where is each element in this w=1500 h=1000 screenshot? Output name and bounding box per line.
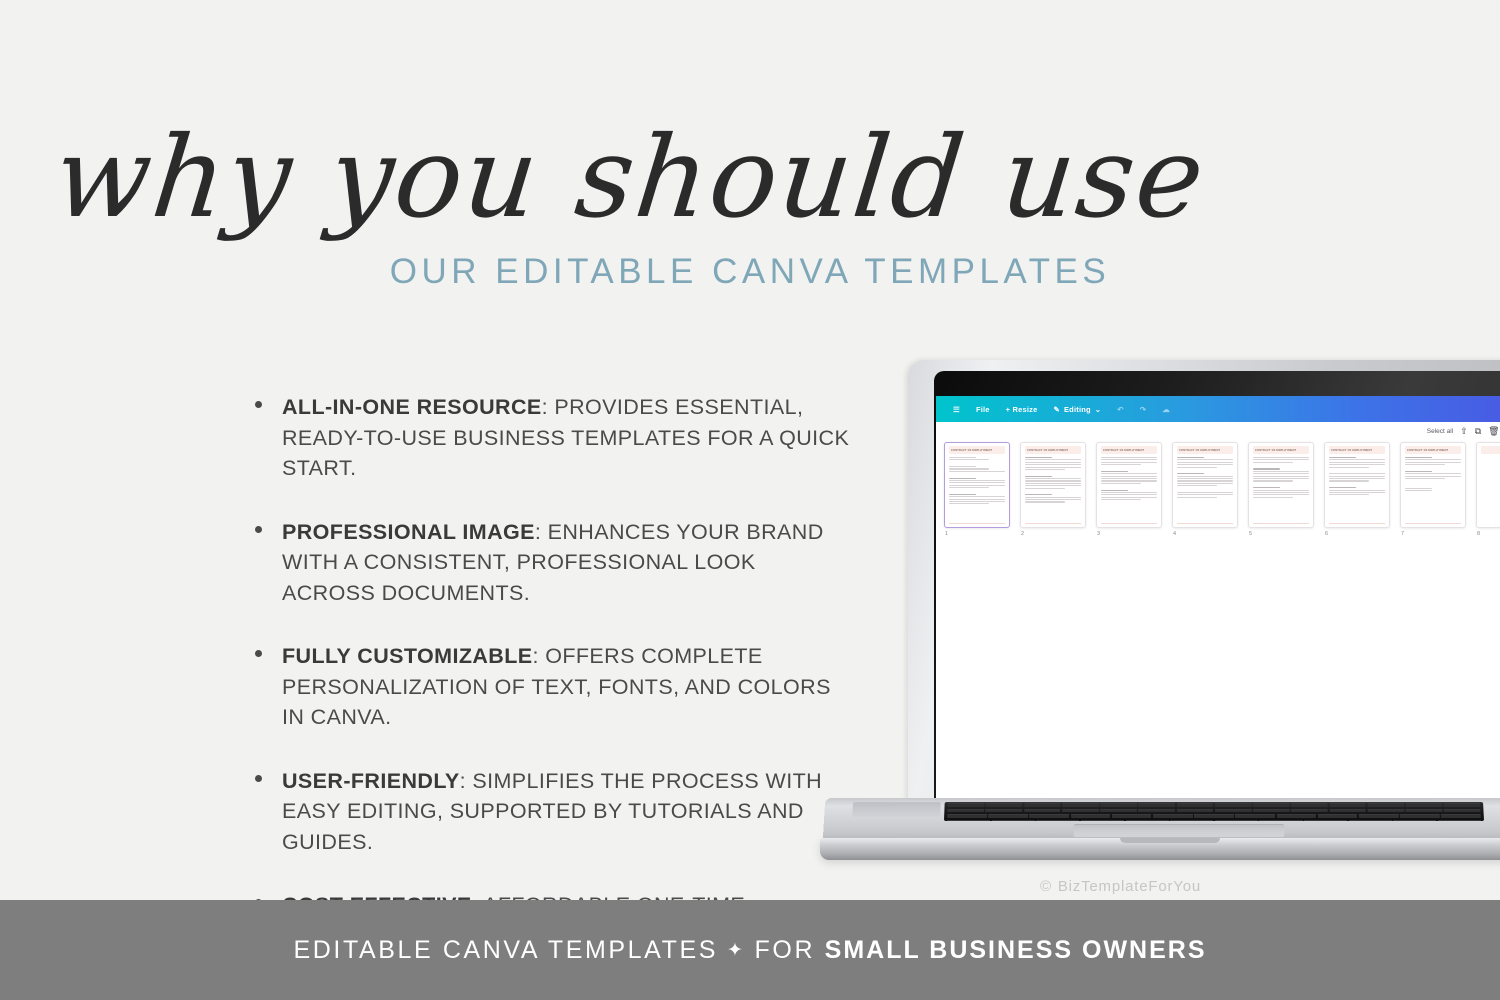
- list-item: ALL-IN-ONE RESOURCE: PROVIDES ESSENTIAL,…: [252, 392, 852, 484]
- document-title: CONTRACT OF EMPLOYMENT: [1179, 449, 1220, 452]
- document-title: CONTRACT OF EMPLOYMENT: [1407, 449, 1448, 452]
- page-number: 6: [1324, 531, 1390, 537]
- bullet-icon: [255, 401, 262, 408]
- redo-icon: ↷: [1140, 405, 1146, 414]
- thumbnail-item[interactable]: CONTRACT OF EMPLOYMENT 6: [1324, 442, 1390, 537]
- trash-icon[interactable]: 🗑: [1488, 427, 1499, 436]
- page-thumbnail[interactable]: CONTRACT OF EMPLOYMENT: [944, 442, 1010, 528]
- laptop-lid: ☰ File + Resize ✎ Editing ⌄ ↶ ↷ ☁: [908, 360, 1500, 802]
- page-number: 3: [1096, 531, 1162, 537]
- watermark-text: BizTemplateForYou: [1058, 878, 1201, 895]
- thumbnail-item[interactable]: 8: [1476, 442, 1500, 537]
- page-thumbnail[interactable]: [1476, 442, 1500, 528]
- thumbnail-item[interactable]: CONTRACT OF EMPLOYMENT 7: [1400, 442, 1466, 537]
- watermark: © BizTemplateForYou: [1040, 878, 1201, 895]
- redo-button[interactable]: ↷: [1132, 396, 1154, 422]
- editing-label: Editing: [1064, 405, 1091, 414]
- thumbnail-item[interactable]: CONTRACT OF EMPLOYMENT 1: [944, 442, 1010, 537]
- benefit-term: ALL-IN-ONE RESOURCE: [282, 395, 542, 419]
- footer-text: EDITABLE CANVA TEMPLATES ✦ FOR SMALL BUS…: [293, 936, 1206, 965]
- laptop-body-top: [823, 798, 1500, 842]
- document-header: CONTRACT OF EMPLOYMENT: [1405, 446, 1461, 454]
- speaker-grille: [852, 802, 941, 817]
- document-title: CONTRACT OF EMPLOYMENT: [1331, 449, 1372, 452]
- bullet-icon: [255, 775, 262, 782]
- footer-bar: EDITABLE CANVA TEMPLATES ✦ FOR SMALL BUS…: [0, 900, 1500, 1000]
- page-number: 4: [1172, 531, 1238, 537]
- list-item: USER-FRIENDLY: SIMPLIFIES THE PROCESS WI…: [252, 766, 852, 858]
- hamburger-icon: ☰: [953, 405, 960, 414]
- thumbnail-item[interactable]: CONTRACT OF EMPLOYMENT 2: [1020, 442, 1086, 537]
- page-number: 7: [1400, 531, 1466, 537]
- benefit-term: PROFESSIONAL IMAGE: [282, 520, 535, 544]
- thumbnail-item[interactable]: CONTRACT OF EMPLOYMENT 5: [1248, 442, 1314, 537]
- document-title: CONTRACT OF EMPLOYMENT: [1255, 449, 1296, 452]
- list-item: PROFESSIONAL IMAGE: ENHANCES YOUR BRAND …: [252, 517, 852, 609]
- header-block: why you should use OUR EDITABLE CANVA TE…: [0, 120, 1260, 292]
- page-thumbnail[interactable]: CONTRACT OF EMPLOYMENT: [1248, 442, 1314, 528]
- page-number: 8: [1476, 531, 1500, 537]
- document-title: CONTRACT OF EMPLOYMENT: [951, 449, 992, 452]
- footer-mid-text: FOR: [755, 936, 816, 965]
- page-subtitle: OUR EDITABLE CANVA TEMPLATES: [0, 252, 1260, 292]
- editing-mode-button[interactable]: ✎ Editing ⌄: [1046, 396, 1110, 422]
- laptop-mockup: ☰ File + Resize ✎ Editing ⌄ ↶ ↷ ☁: [820, 360, 1500, 870]
- undo-button[interactable]: ↶: [1109, 396, 1131, 422]
- resize-button[interactable]: + Resize: [998, 396, 1046, 422]
- laptop-base: [820, 798, 1500, 870]
- bullet-icon: [255, 526, 262, 533]
- laptop-front-notch: [1120, 838, 1220, 843]
- page-thumbnail[interactable]: CONTRACT OF EMPLOYMENT: [1096, 442, 1162, 528]
- thumbnail-item[interactable]: CONTRACT OF EMPLOYMENT 3: [1096, 442, 1162, 537]
- benefit-term: FULLY CUSTOMIZABLE: [282, 644, 532, 668]
- undo-icon: ↶: [1117, 405, 1123, 414]
- canva-app-window: ☰ File + Resize ✎ Editing ⌄ ↶ ↷ ☁: [936, 396, 1500, 802]
- bullet-icon: [255, 650, 262, 657]
- duplicate-icon[interactable]: ⧉: [1475, 427, 1481, 436]
- page-number: 5: [1248, 531, 1314, 537]
- document-header: CONTRACT OF EMPLOYMENT: [1253, 446, 1309, 454]
- cloud-icon: ☁: [1162, 405, 1170, 414]
- page-title: why you should use: [0, 120, 1266, 238]
- page-thumbnail-strip: CONTRACT OF EMPLOYMENT 1: [936, 439, 1500, 537]
- document-header: CONTRACT OF EMPLOYMENT: [1101, 446, 1157, 454]
- document-header: CONTRACT OF EMPLOYMENT: [1177, 446, 1233, 454]
- cloud-sync-button[interactable]: ☁: [1154, 396, 1178, 422]
- trackpad: [1074, 824, 1285, 837]
- page-thumbnail[interactable]: CONTRACT OF EMPLOYMENT: [1020, 442, 1086, 528]
- benefit-term: USER-FRIENDLY: [282, 769, 460, 793]
- document-title: CONTRACT OF EMPLOYMENT: [1027, 449, 1068, 452]
- benefits-list: ALL-IN-ONE RESOURCE: PROVIDES ESSENTIAL,…: [252, 392, 852, 982]
- page-actions-bar: Select all ⇧ ⧉ 🗑 ⌀: [936, 422, 1500, 439]
- copyright-icon: ©: [1040, 878, 1052, 895]
- chevron-down-icon: ⌄: [1095, 405, 1101, 414]
- footer-strong-text: SMALL BUSINESS OWNERS: [825, 936, 1207, 965]
- page-thumbnail[interactable]: CONTRACT OF EMPLOYMENT: [1324, 442, 1390, 528]
- pencil-icon: ✎: [1054, 405, 1060, 414]
- hamburger-menu-button[interactable]: ☰: [945, 396, 968, 422]
- list-item: FULLY CUSTOMIZABLE: OFFERS COMPLETE PERS…: [252, 641, 852, 733]
- diamond-icon: ✦: [718, 939, 755, 962]
- document-header: CONTRACT OF EMPLOYMENT: [1329, 446, 1385, 454]
- thumbnail-item[interactable]: CONTRACT OF EMPLOYMENT 4: [1172, 442, 1238, 537]
- keyboard: [944, 802, 1484, 821]
- document-title: CONTRACT OF EMPLOYMENT: [1103, 449, 1144, 452]
- page-thumbnail[interactable]: CONTRACT OF EMPLOYMENT: [1400, 442, 1466, 528]
- document-header: CONTRACT OF EMPLOYMENT: [1025, 446, 1081, 454]
- select-all-button[interactable]: Select all: [1427, 428, 1453, 435]
- page-number: 2: [1020, 531, 1086, 537]
- footer-lead-text: EDITABLE CANVA TEMPLATES: [293, 936, 718, 965]
- canva-toolbar: ☰ File + Resize ✎ Editing ⌄ ↶ ↷ ☁: [936, 396, 1500, 422]
- page-thumbnail[interactable]: CONTRACT OF EMPLOYMENT: [1172, 442, 1238, 528]
- document-header: CONTRACT OF EMPLOYMENT: [949, 446, 1005, 454]
- page-number: 1: [944, 531, 1010, 537]
- document-header: [1481, 446, 1500, 454]
- export-icon[interactable]: ⇧: [1460, 427, 1468, 436]
- file-menu-button[interactable]: File: [968, 396, 998, 422]
